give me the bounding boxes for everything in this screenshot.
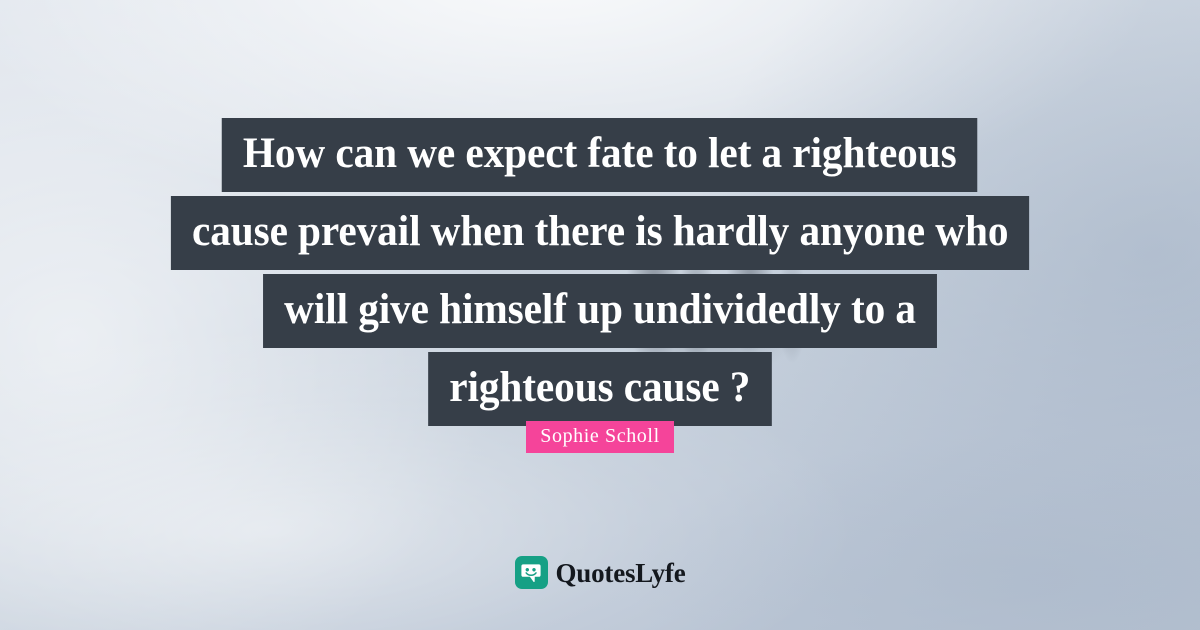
quote-line-1: How can we expect fate to let a righteou… [222, 118, 978, 192]
quote-line-3: will give himself up undividedly to a [263, 274, 937, 348]
quote-bubble-icon [515, 556, 548, 589]
quote-line-4: righteous cause ? [428, 352, 771, 426]
site-logo[interactable]: QuotesLyfe [0, 556, 1200, 589]
site-logo-text: QuotesLyfe [556, 558, 686, 588]
author-attribution: Sophie Scholl [0, 421, 1200, 453]
quote-line-2: cause prevail when there is hardly anyon… [171, 196, 1030, 270]
author-name-badge: Sophie Scholl [526, 421, 673, 453]
quote-text-block: How can we expect fate to let a righteou… [0, 118, 1200, 426]
quote-card: How can we expect fate to let a righteou… [0, 0, 1200, 630]
